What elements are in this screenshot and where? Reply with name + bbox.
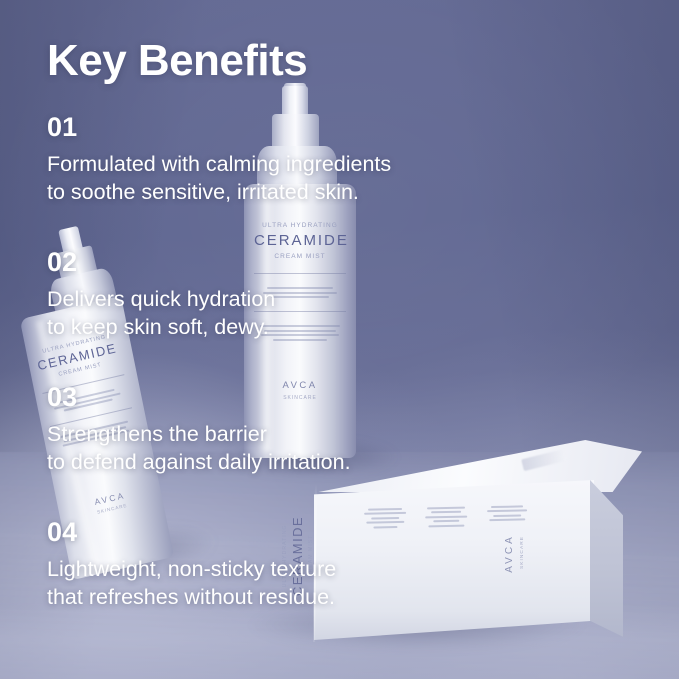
page-title: Key Benefits — [47, 36, 307, 86]
benefit-text: Formulated with calming ingredients to s… — [47, 150, 391, 206]
benefit-number: 03 — [47, 384, 351, 411]
benefit-text: Delivers quick hydration to keep skin so… — [47, 285, 275, 341]
benefit-number: 02 — [47, 249, 275, 276]
product-marketing-image: ULTRA HYDRATING CERAMIDE CREAM MIST AVCA… — [0, 0, 679, 679]
text-overlay: Key Benefits 01 Formulated with calming … — [0, 0, 679, 679]
benefit-text: Strengthens the barrier to defend agains… — [47, 420, 351, 476]
benefit-item-04: 04 Lightweight, non-sticky texture that … — [47, 519, 336, 611]
benefit-item-01: 01 Formulated with calming ingredients t… — [47, 114, 391, 206]
benefit-number: 01 — [47, 114, 391, 141]
benefit-item-02: 02 Delivers quick hydration to keep skin… — [47, 249, 275, 341]
benefit-number: 04 — [47, 519, 336, 546]
benefit-item-03: 03 Strengthens the barrier to defend aga… — [47, 384, 351, 476]
benefit-text: Lightweight, non-sticky texture that ref… — [47, 555, 336, 611]
